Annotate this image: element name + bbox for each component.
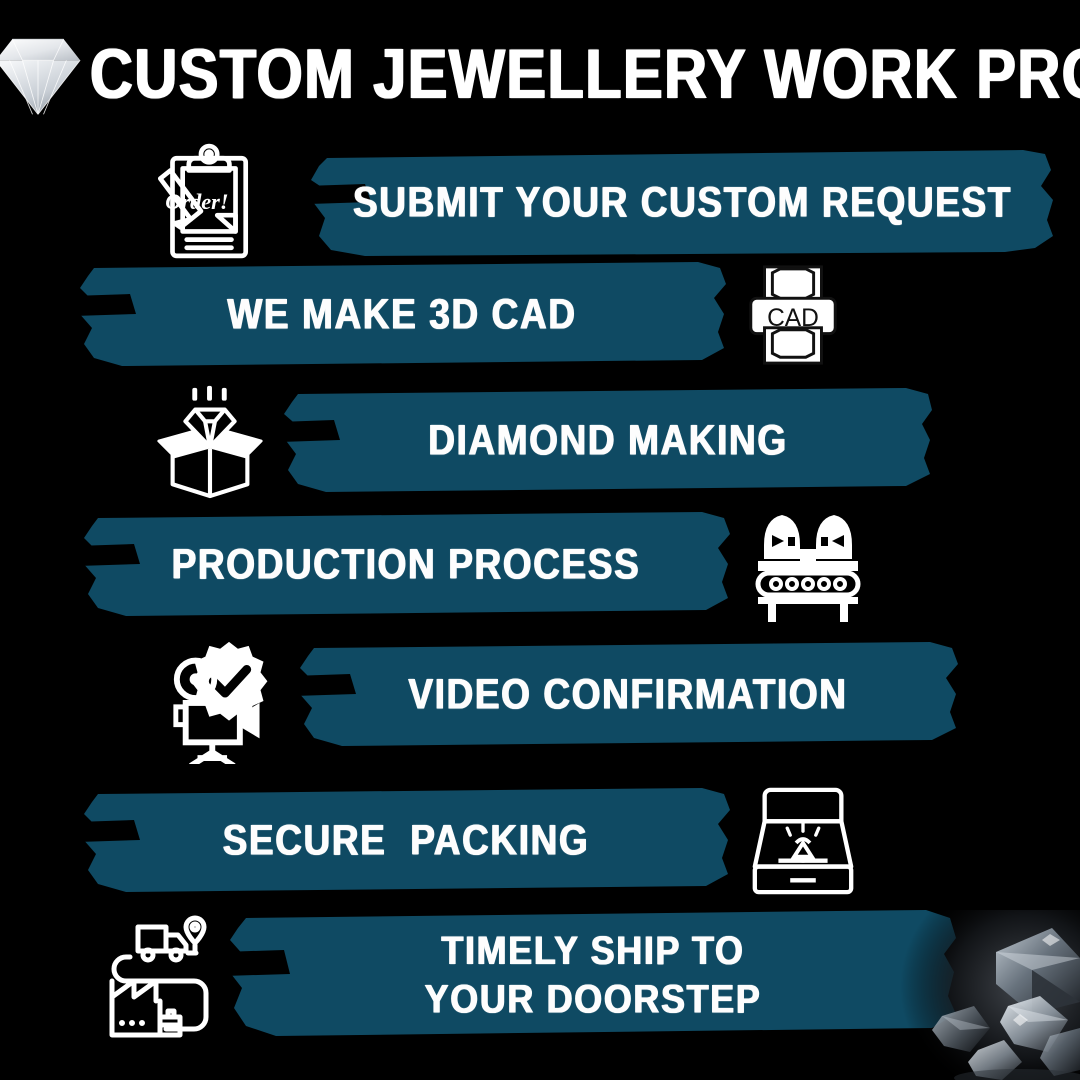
- header: CUSTOM JEWELLERY WORK PROCESS: [0, 22, 1080, 132]
- cad-printer-label: CAD: [767, 304, 819, 331]
- ring-jewellery-box-icon: [740, 778, 865, 903]
- process-step-row: TIMELY SHIP TO YOUR DOORSTEP: [0, 900, 1080, 1050]
- clipboard-order-text: Order!: [165, 189, 228, 214]
- step-label: PRODUCTION PROCESS: [172, 541, 641, 589]
- diamond-gem-icon: [0, 30, 84, 118]
- step-banner[interactable]: SUBMIT YOUR CUSTOM REQUEST: [305, 140, 1060, 265]
- infographic-poster: CUSTOM JEWELLERY WORK PROCESS Order!: [0, 0, 1080, 1080]
- step-label: TIMELY SHIP TO YOUR DOORSTEP: [425, 927, 762, 1024]
- step-banner[interactable]: DIAMOND MAKING: [278, 378, 938, 503]
- step-banner[interactable]: PRODUCTION PROCESS: [76, 502, 736, 627]
- step-label: VIDEO CONFIRMATION: [408, 671, 847, 719]
- process-step-row: WE MAKE 3D CAD CAD: [0, 252, 1080, 377]
- cad-printer-icon: CAD: [730, 252, 855, 377]
- step-banner[interactable]: SECURE PACKING: [76, 778, 736, 903]
- conveyor-robot-arms-icon: [740, 502, 875, 627]
- process-step-row: DIAMOND MAKING: [0, 378, 1080, 503]
- process-step-row: PRODUCTION PROCESS: [0, 502, 1080, 627]
- factory-truck-delivery-route-icon: [95, 900, 235, 1050]
- process-step-row: Order! SUBMIT YOUR CUSTOM REQUEST: [0, 140, 1080, 265]
- step-banner[interactable]: TIMELY SHIP TO YOUR DOORSTEP: [222, 900, 964, 1050]
- process-step-row: SECURE PACKING: [0, 778, 1080, 903]
- process-step-row: VIDEO CONFIRMATION: [0, 632, 1080, 757]
- page-title: CUSTOM JEWELLERY WORK PROCESS: [90, 12, 1060, 142]
- video-camera-check-icon: [160, 632, 300, 767]
- step-label: SUBMIT YOUR CUSTOM REQUEST: [353, 179, 1012, 227]
- diamond-in-open-box-icon: [140, 378, 280, 503]
- clipboard-order-pencil-icon: Order!: [128, 140, 278, 265]
- step-banner[interactable]: VIDEO CONFIRMATION: [292, 632, 964, 757]
- step-label: WE MAKE 3D CAD: [227, 291, 576, 339]
- step-label: DIAMOND MAKING: [428, 417, 787, 465]
- step-label: SECURE PACKING: [223, 817, 590, 865]
- step-banner[interactable]: WE MAKE 3D CAD: [72, 252, 732, 377]
